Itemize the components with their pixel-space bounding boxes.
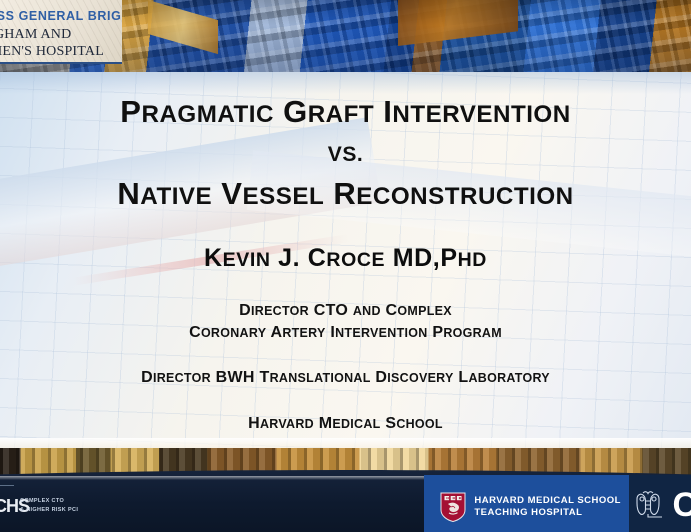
harvard-shield-icon xyxy=(440,492,466,522)
cto-logo-text: COMPLEX CTO & HIGHER RISK PCI xyxy=(20,497,78,514)
slide-title-line-1: PRAGMATIC GRAFT INTERVENTION xyxy=(0,96,691,127)
slide-title-line-2: VS. xyxy=(0,139,691,166)
harvard-medical-school-badge: HARVARD MEDICAL SCHOOL TEACHING HOSPITAL xyxy=(440,492,621,522)
hospital-logo-line-3: WOMEN'S HOSPITAL xyxy=(0,44,104,60)
presenter-role-block: DIRECTOR CTO AND COMPLEX CORONARY ARTERY… xyxy=(0,300,691,344)
presenter-school-line: HARVARD MEDICAL SCHOOL xyxy=(0,415,691,433)
harvard-badge-line-1: HARVARD MEDICAL SCHOOL xyxy=(474,495,621,507)
hospital-logo-line-2: BRIGHAM AND xyxy=(0,27,71,43)
hospital-logo-line-1: MASS GENERAL BRIGHAM HEALTH xyxy=(0,9,122,23)
anatomical-heart-icon xyxy=(633,490,663,518)
partner-logo-letter: C xyxy=(672,488,691,522)
slide-title-block: PRAGMATIC GRAFT INTERVENTION VS. NATIVE … xyxy=(0,96,691,209)
presenter-role-line-2: CORONARY ARTERY INTERVENTION PROGRAM xyxy=(0,322,691,344)
cto-program-logo: CHS COMPLEX CTO & HIGHER RISK PCI xyxy=(0,494,170,520)
harvard-badge-text: HARVARD MEDICAL SCHOOL TEACHING HOSPITAL xyxy=(474,495,621,520)
slide-title-line-3: NATIVE VESSEL RECONSTRUCTION xyxy=(0,178,691,209)
divider-rule xyxy=(0,485,14,486)
cto-logo-text-line-1: COMPLEX CTO xyxy=(20,497,78,506)
presenter-lab-line: DIRECTOR BWH TRANSLATIONAL DISCOVERY LAB… xyxy=(0,369,691,387)
harvard-badge-line-2: TEACHING HOSPITAL xyxy=(474,507,621,519)
presenter-name: KEVIN J. CROCE MD,PHD xyxy=(0,244,691,273)
hospital-logo-plate: MASS GENERAL BRIGHAM HEALTH BRIGHAM AND … xyxy=(0,0,122,64)
presenter-role-line-1: DIRECTOR CTO AND COMPLEX xyxy=(0,300,691,322)
presentation-slide: MASS GENERAL BRIGHAM HEALTH BRIGHAM AND … xyxy=(0,0,691,532)
cto-logo-text-line-2: & HIGHER RISK PCI xyxy=(20,506,78,515)
